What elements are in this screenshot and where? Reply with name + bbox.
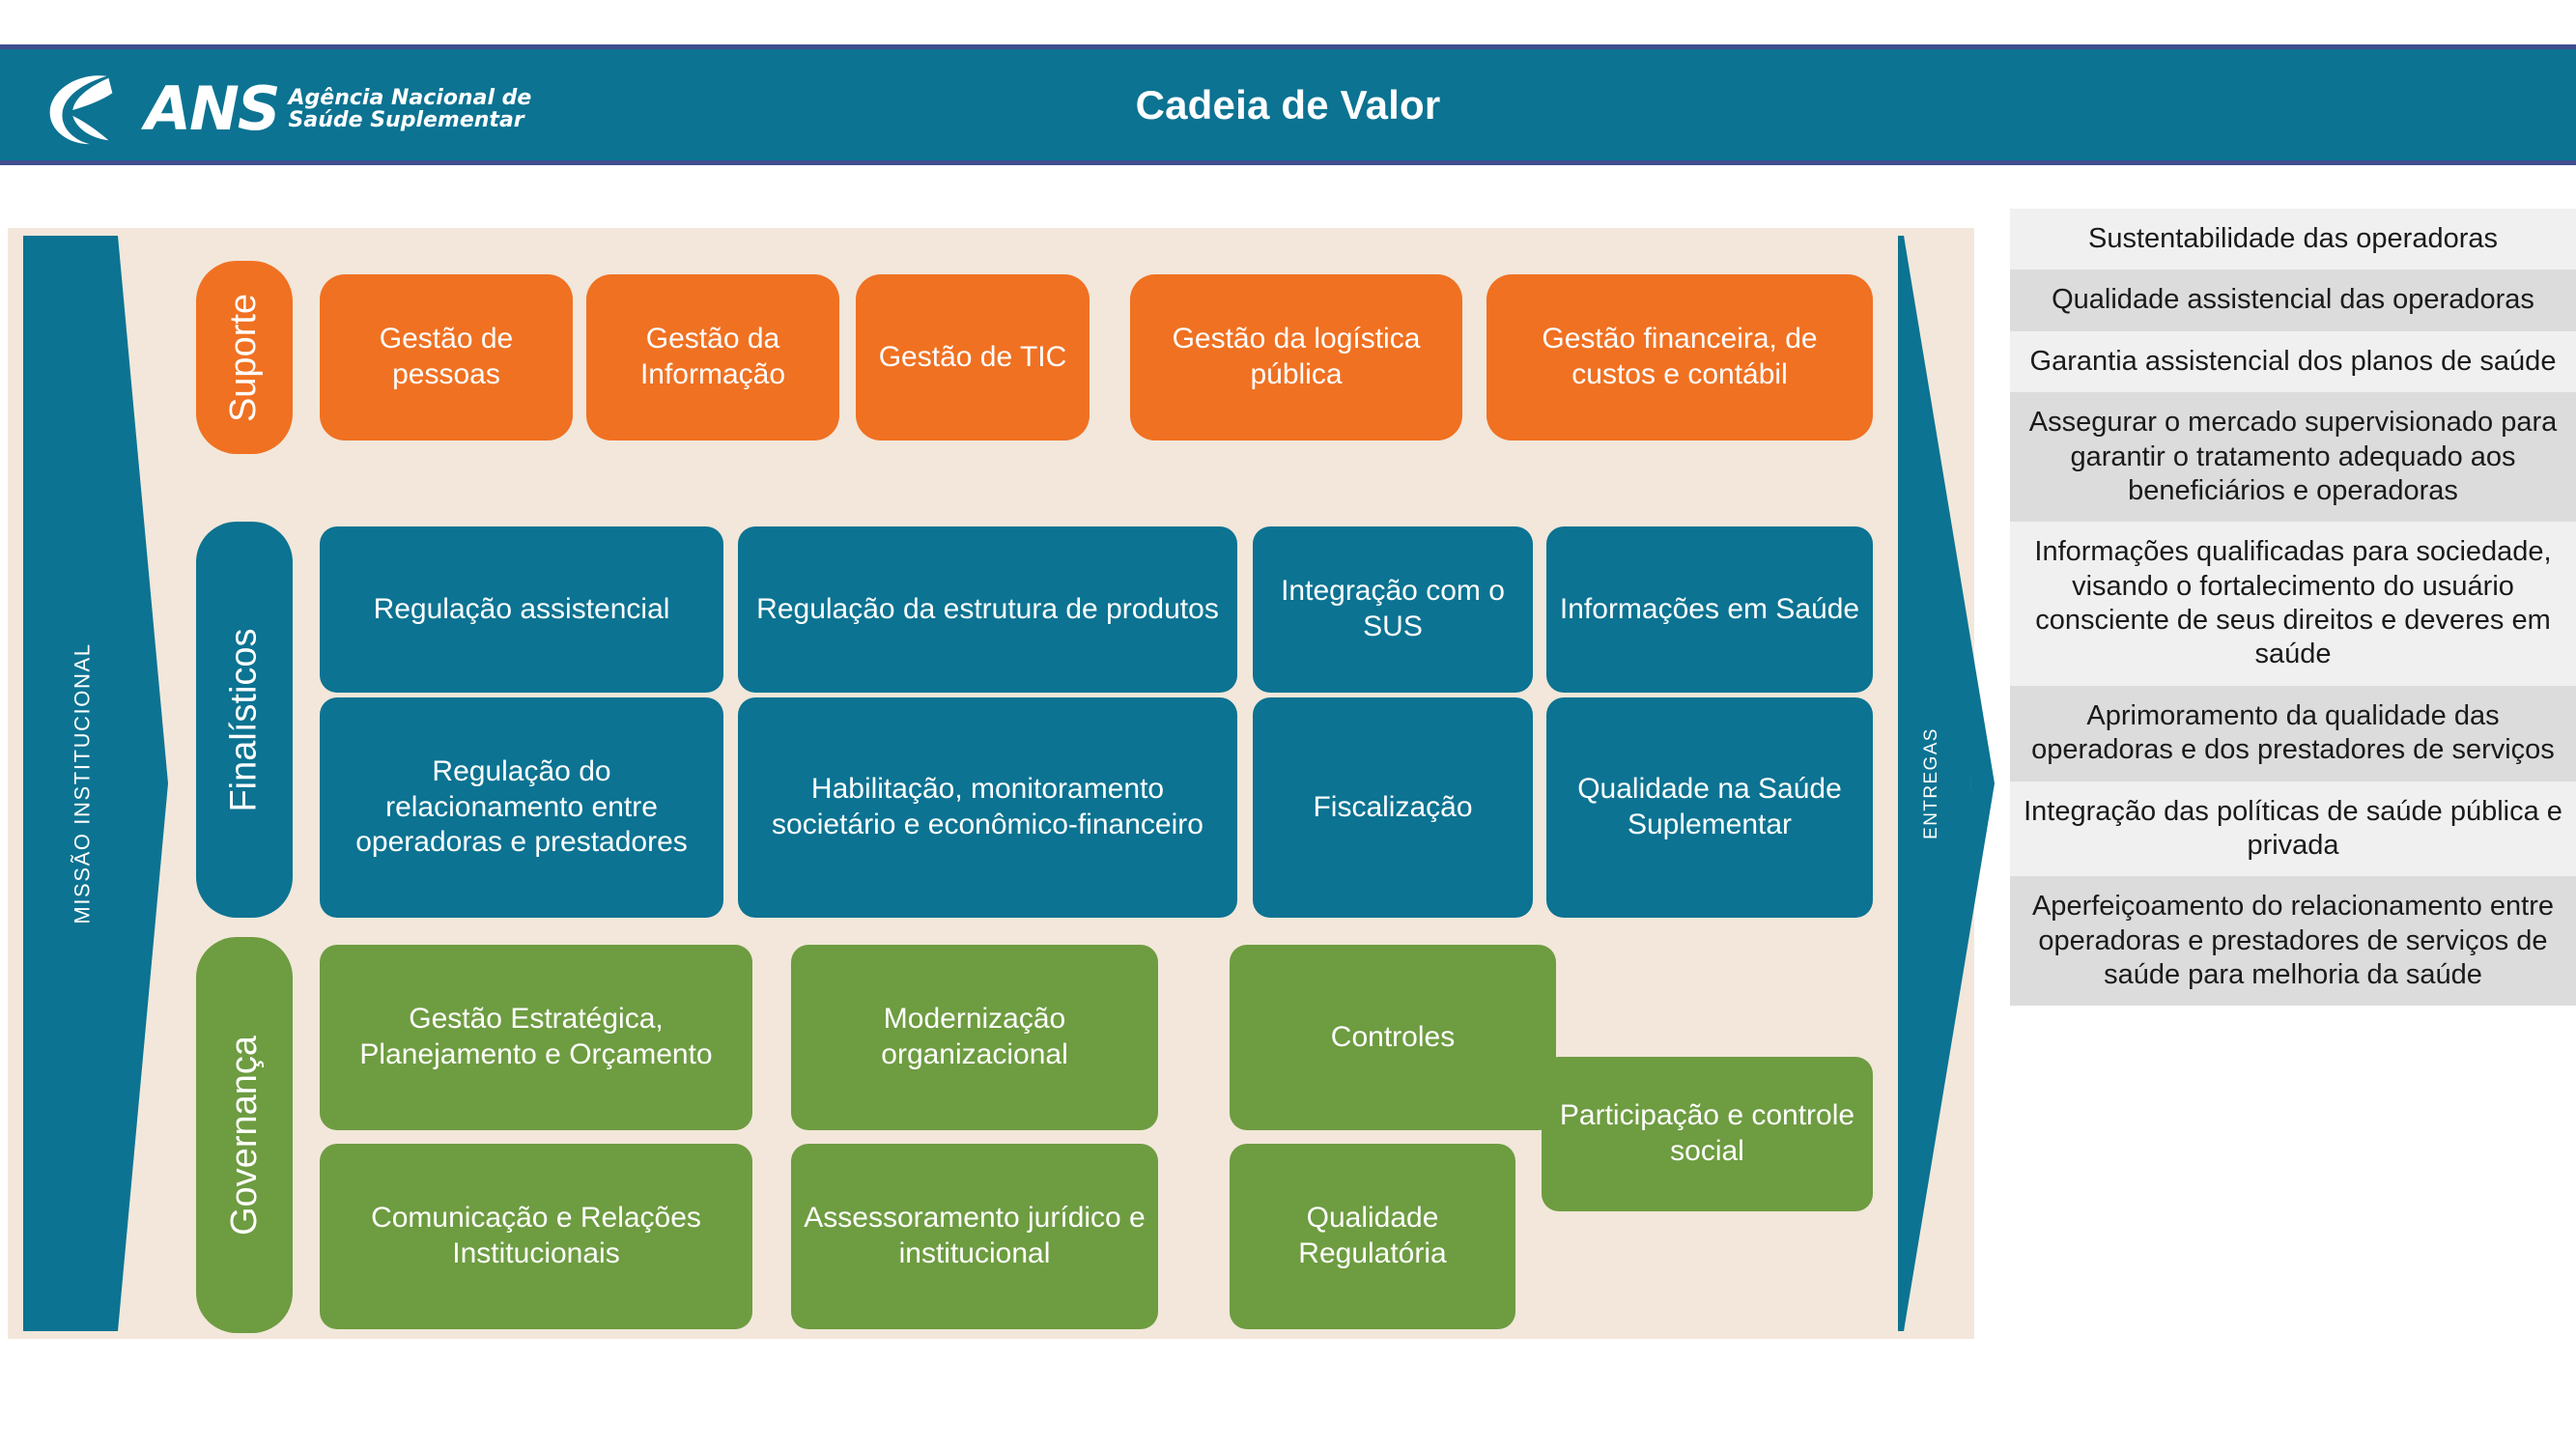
process-box-gestao-da-informacao[interactable]: Gestão da Informação xyxy=(586,274,839,440)
ans-logo: ANS Agência Nacional de Saúde Suplementa… xyxy=(37,67,531,152)
mission-arrow-shape xyxy=(23,236,168,1331)
category-pill-governanca[interactable]: Governança xyxy=(196,937,293,1333)
process-box-participacao-controle[interactable]: Participação e controle social xyxy=(1542,1057,1873,1211)
category-pill-finalisticos[interactable]: Finalísticos xyxy=(196,522,293,918)
process-box-informacoes-em-saude[interactable]: Informações em Saúde xyxy=(1546,526,1873,693)
process-box-gestao-estrategica[interactable]: Gestão Estratégica, Planejamento e Orçam… xyxy=(320,945,752,1130)
entrega-item[interactable]: Assegurar o mercado supervisionado para … xyxy=(2010,392,2576,522)
category-pill-suporte-label: Suporte xyxy=(224,293,266,421)
entregas-list: Sustentabilidade das operadoras Qualidad… xyxy=(2010,209,2576,1006)
process-box-regulacao-relacionamento[interactable]: Regulação do relacionamento entre operad… xyxy=(320,697,723,918)
category-pill-finalisticos-label: Finalísticos xyxy=(224,628,266,811)
entrega-item[interactable]: Qualidade assistencial das operadoras xyxy=(2010,270,2576,330)
entrega-item[interactable]: Informações qualificadas para sociedade,… xyxy=(2010,522,2576,686)
process-box-gestao-de-tic[interactable]: Gestão de TIC xyxy=(856,274,1090,440)
logo-line-2: Saúde Suplementar xyxy=(289,109,532,131)
process-box-controles[interactable]: Controles xyxy=(1230,945,1556,1130)
process-box-gestao-de-pessoas[interactable]: Gestão de pessoas xyxy=(320,274,573,440)
entrega-item[interactable]: Sustentabilidade das operadoras xyxy=(2010,209,2576,270)
entrega-item[interactable]: Garantia assistencial dos planos de saúd… xyxy=(2010,331,2576,392)
process-box-regulacao-estrutura-produtos[interactable]: Regulação da estrutura de produtos xyxy=(738,526,1237,693)
entregas-arrow-shape xyxy=(1888,236,1995,1331)
process-box-habilitacao-monitoramento[interactable]: Habilitação, monitoramento societário e … xyxy=(738,697,1237,918)
category-pill-suporte[interactable]: Suporte xyxy=(196,261,293,454)
process-box-integracao-sus[interactable]: Integração com o SUS xyxy=(1253,526,1533,693)
page-header: Cadeia de Valor ANS Agência Nacional de … xyxy=(0,44,2576,165)
process-box-gestao-financeira[interactable]: Gestão financeira, de custos e contábil xyxy=(1486,274,1873,440)
logo-line-1: Agência Nacional de xyxy=(289,87,532,109)
category-pill-governanca-label: Governança xyxy=(224,1035,266,1235)
entrega-item[interactable]: Aprimoramento da qualidade das operadora… xyxy=(2010,686,2576,781)
process-box-regulacao-assistencial[interactable]: Regulação assistencial xyxy=(320,526,723,693)
process-box-modernizacao[interactable]: Modernização organizacional xyxy=(791,945,1158,1130)
logo-acronym: ANS xyxy=(145,81,279,136)
process-box-fiscalizacao[interactable]: Fiscalização xyxy=(1253,697,1533,918)
ans-eye-logo-icon xyxy=(37,67,131,152)
entrega-item[interactable]: Aperfeiçoamento do relacionamento entre … xyxy=(2010,876,2576,1006)
process-box-qualidade-saude-suplementar[interactable]: Qualidade na Saúde Suplementar xyxy=(1546,697,1873,918)
process-box-qualidade-regulatoria[interactable]: Qualidade Regulatória xyxy=(1230,1144,1515,1329)
process-box-assessoramento-juridico[interactable]: Assessoramento jurídico e institucional xyxy=(791,1144,1158,1329)
process-box-comunicacao-relacoes[interactable]: Comunicação e Relações Institucionais xyxy=(320,1144,752,1329)
entrega-item[interactable]: Integração das políticas de saúde públic… xyxy=(2010,781,2576,877)
process-box-gestao-da-logistica[interactable]: Gestão da logística pública xyxy=(1130,274,1462,440)
